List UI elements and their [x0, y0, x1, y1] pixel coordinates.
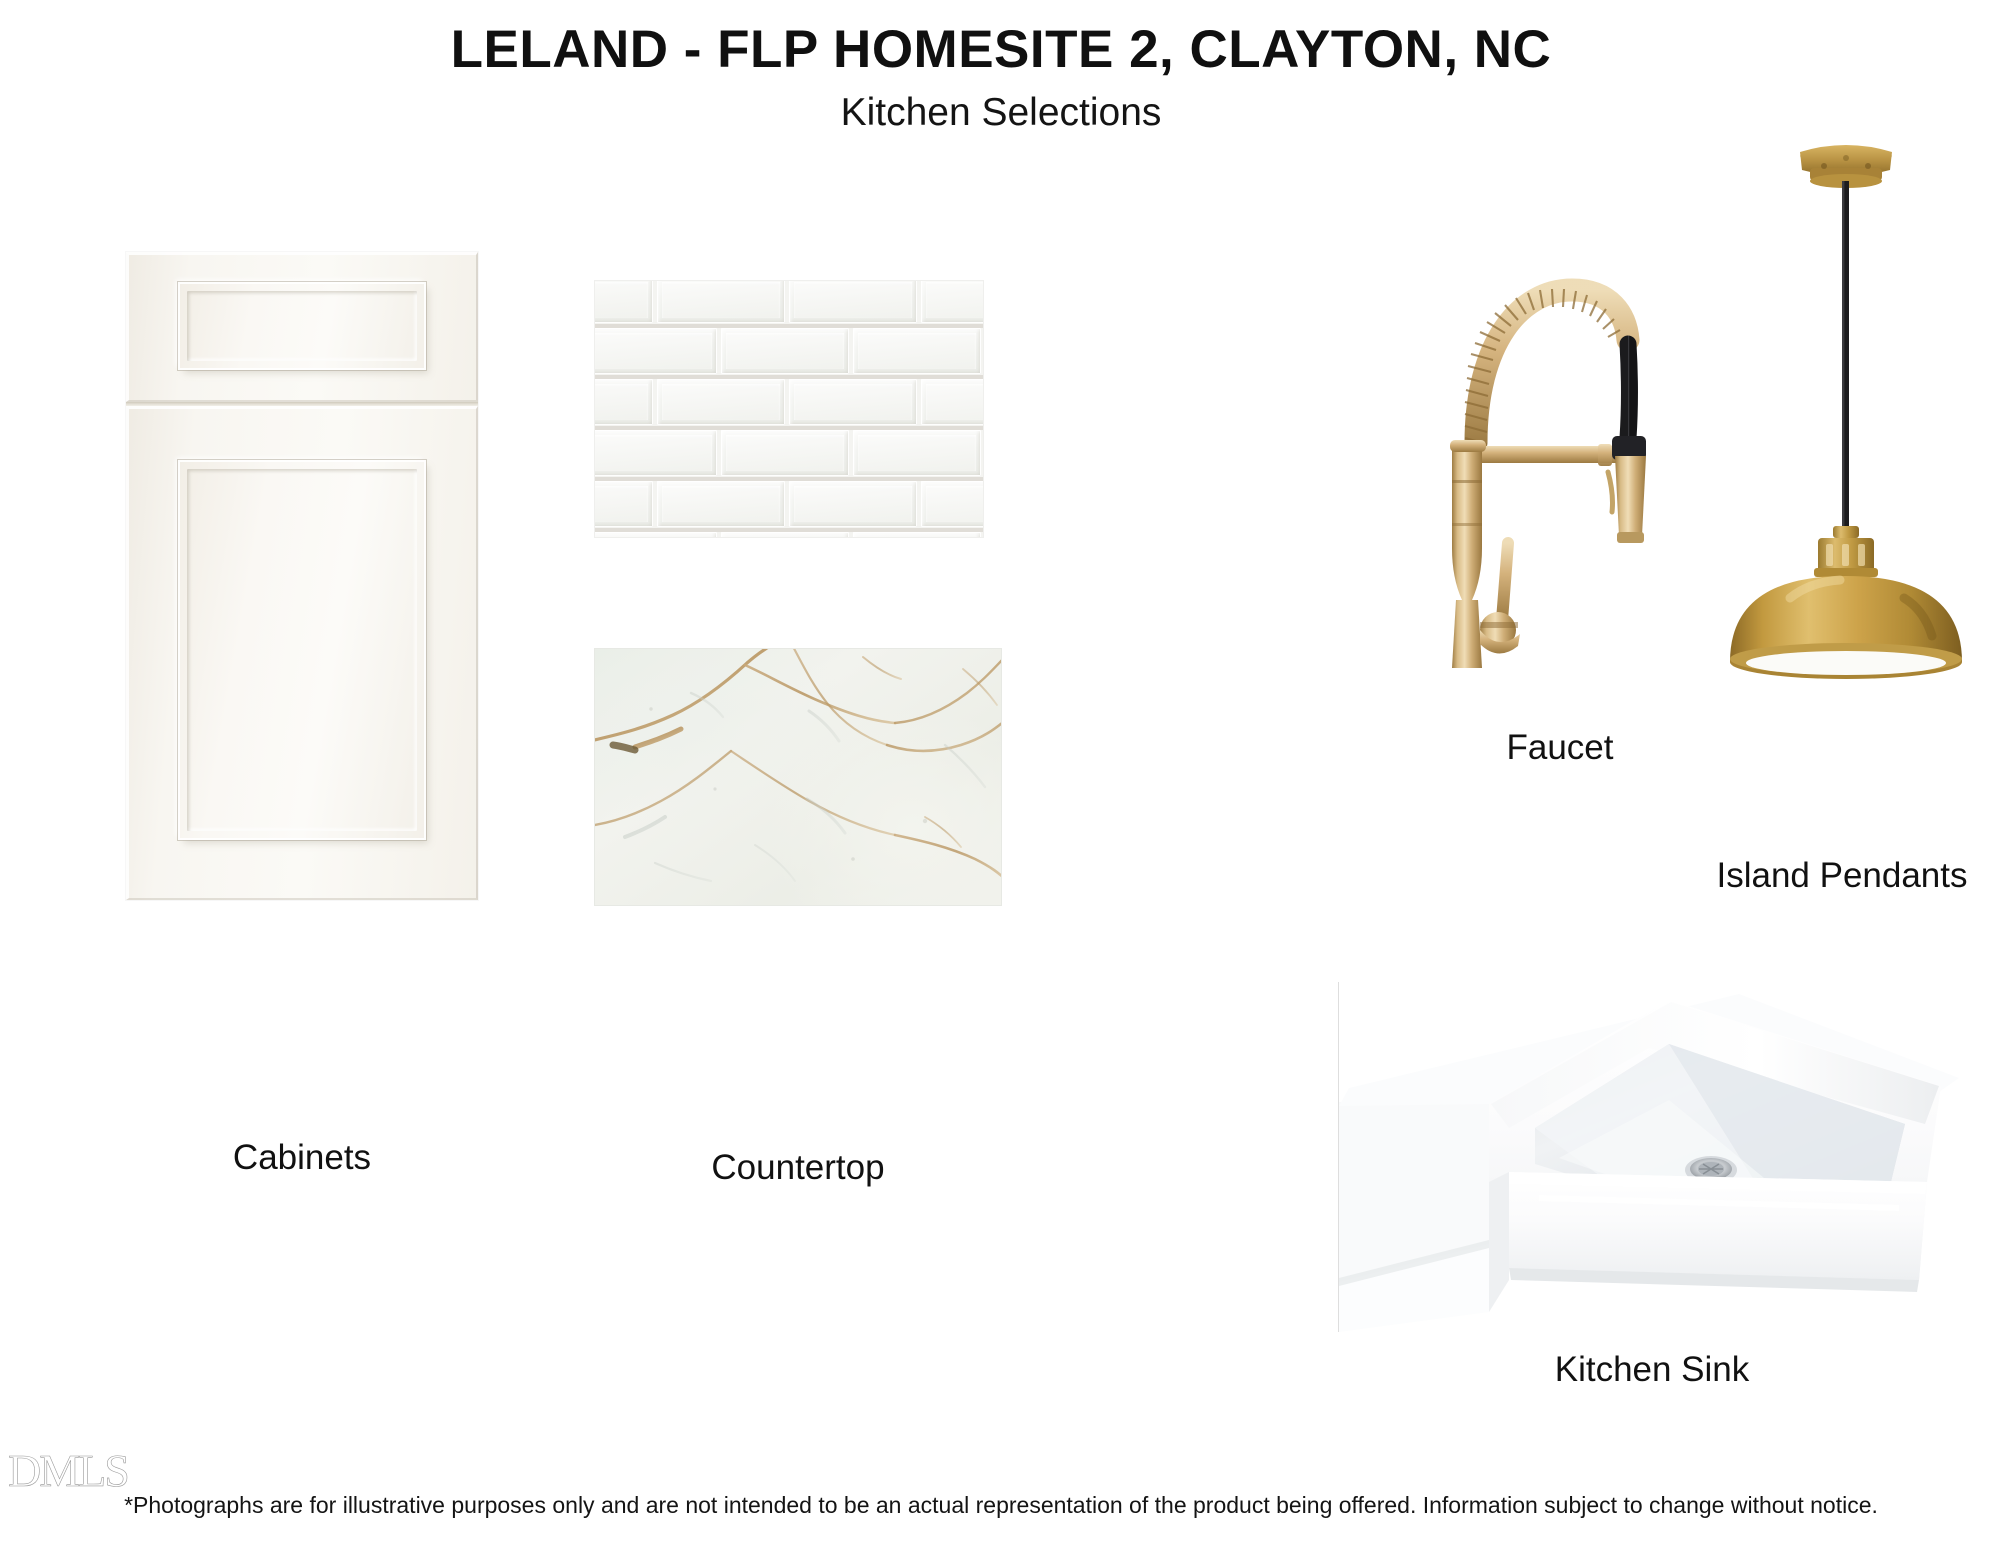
- grout-line: [595, 375, 983, 379]
- tile-row: [594, 532, 984, 538]
- pulldown-faucet-graphic: [1430, 248, 1690, 708]
- kitchen-sink-label: Kitchen Sink: [1338, 1350, 1966, 1390]
- cabinet-lower-door-front: [126, 406, 478, 900]
- tile-row: [594, 430, 984, 480]
- dmls-watermark-logo: DMLS: [8, 1448, 128, 1494]
- subway-tile: [789, 280, 917, 323]
- subway-tile: [594, 532, 717, 538]
- island-pendant-image: [1690, 128, 2002, 690]
- subway-tile: [594, 328, 717, 374]
- apron-front-sink-graphic: [1339, 982, 1966, 1332]
- subway-tile: [853, 328, 981, 374]
- subway-tile: [853, 430, 981, 476]
- tile-row: [594, 280, 984, 327]
- cabinet-door-swatch: [126, 252, 478, 900]
- tile-row: [594, 328, 984, 378]
- grout-line: [595, 477, 983, 481]
- page-title: LELAND - FLP HOMESITE 2, CLAYTON, NC: [0, 0, 2002, 78]
- subway-tile: [594, 379, 653, 425]
- subway-tile: [853, 532, 981, 538]
- subway-tile: [721, 430, 849, 476]
- countertop-label: Countertop: [594, 1148, 1002, 1188]
- backsplash-tile-swatch: [594, 280, 984, 538]
- quartz-veining-graphic: [595, 649, 1002, 906]
- subway-tile: [594, 280, 653, 323]
- page-subtitle: Kitchen Selections: [0, 78, 2002, 135]
- grout-line: [595, 426, 983, 430]
- grout-line: [595, 528, 983, 532]
- cabinet-upper-drawer-front: [126, 252, 478, 402]
- subway-tile: [657, 280, 785, 323]
- cabinet-raised-panel-top: [178, 282, 426, 370]
- subway-tile: [657, 481, 785, 527]
- disclaimer-text: *Photographs are for illustrative purpos…: [0, 1492, 2002, 1520]
- subway-tile: [657, 379, 785, 425]
- subway-tile: [921, 379, 984, 425]
- subway-tile: [921, 280, 984, 323]
- subway-tile: [789, 379, 917, 425]
- subway-tile: [594, 481, 653, 527]
- subway-tile: [721, 532, 849, 538]
- subway-tile: [921, 481, 984, 527]
- cabinets-label: Cabinets: [126, 1138, 478, 1178]
- subway-tile: [594, 430, 717, 476]
- dome-pendant-graphic: [1690, 128, 2002, 690]
- subway-tile: [721, 328, 849, 374]
- countertop-quartz-swatch: [594, 648, 1002, 906]
- board-header: LELAND - FLP HOMESITE 2, CLAYTON, NC Kit…: [0, 0, 2002, 135]
- cabinet-raised-panel-bottom: [178, 460, 426, 840]
- island-pendants-label: Island Pendants: [1682, 856, 2002, 896]
- grout-line: [595, 324, 983, 328]
- faucet-image: [1430, 248, 1690, 708]
- kitchen-sink-image: [1338, 982, 1966, 1332]
- subway-tile: [789, 481, 917, 527]
- faucet-label: Faucet: [1430, 728, 1690, 768]
- tile-row: [594, 481, 984, 531]
- tile-row: [594, 379, 984, 429]
